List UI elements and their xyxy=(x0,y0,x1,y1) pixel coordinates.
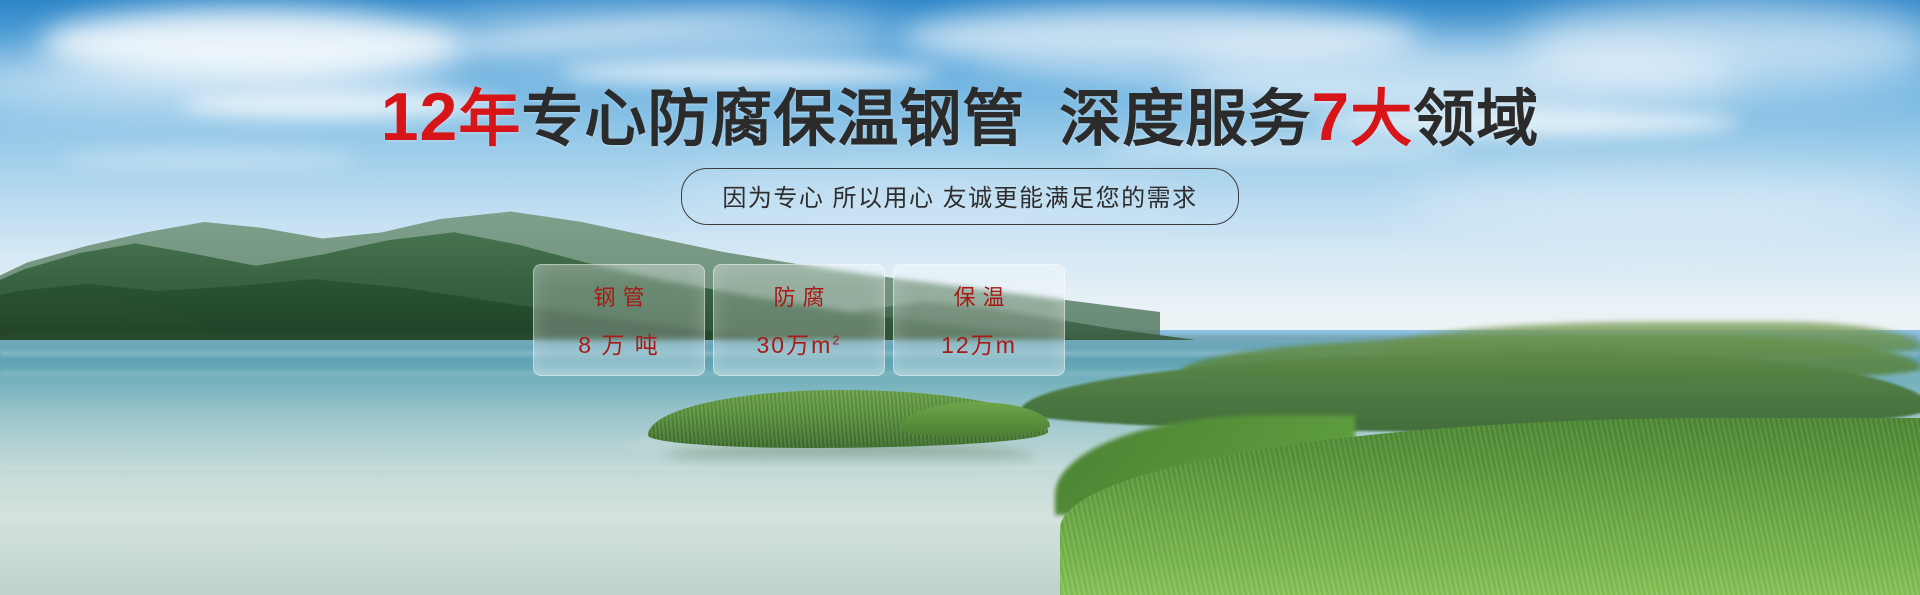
banner-content: 12年专心防腐保温钢管深度服务7大领域 因为专心 所以用心 友诚更能满足您的需求… xyxy=(0,0,1920,595)
headline: 12年专心防腐保温钢管深度服务7大领域 xyxy=(0,83,1920,151)
stat-card-anticorrosion: 防腐 30万m2 xyxy=(713,264,885,376)
headline-fields-text: 领域 xyxy=(1413,85,1539,154)
subtitle-pill: 因为专心 所以用心 友诚更能满足您的需求 xyxy=(681,168,1238,225)
headline-fields-number: 7 xyxy=(1311,79,1350,155)
stat-card-steel-pipe: 钢管 8 万 吨 xyxy=(533,264,705,376)
stat-card-value: 8 万 吨 xyxy=(578,326,660,360)
stat-card-value-text: 30万m xyxy=(757,332,833,358)
headline-service-text: 深度服务 xyxy=(1059,85,1311,154)
headline-fields-unit: 大 xyxy=(1350,85,1413,154)
headline-years-unit: 年 xyxy=(458,85,521,154)
stat-card-label: 保温 xyxy=(946,280,1011,312)
stat-card-value-text: 12万m xyxy=(941,332,1017,358)
stat-card-value: 30万m2 xyxy=(757,326,842,360)
stat-card-label: 钢管 xyxy=(586,280,651,312)
hero-banner: 12年专心防腐保温钢管深度服务7大领域 因为专心 所以用心 友诚更能满足您的需求… xyxy=(0,0,1920,595)
headline-main-text: 专心防腐保温钢管 xyxy=(521,85,1025,154)
stat-card-insulation: 保温 12万m xyxy=(893,264,1065,376)
stat-card-label: 防腐 xyxy=(766,280,831,312)
headline-years-number: 12 xyxy=(381,79,459,155)
stats-card-group: 钢管 8 万 吨 防腐 30万m2 保温 12万m xyxy=(533,264,1065,376)
stat-card-value-sup: 2 xyxy=(832,332,841,347)
subtitle-container: 因为专心 所以用心 友诚更能满足您的需求 xyxy=(0,168,1920,225)
stat-card-value-text: 8 万 吨 xyxy=(578,332,660,358)
stat-card-value: 12万m xyxy=(941,326,1017,360)
